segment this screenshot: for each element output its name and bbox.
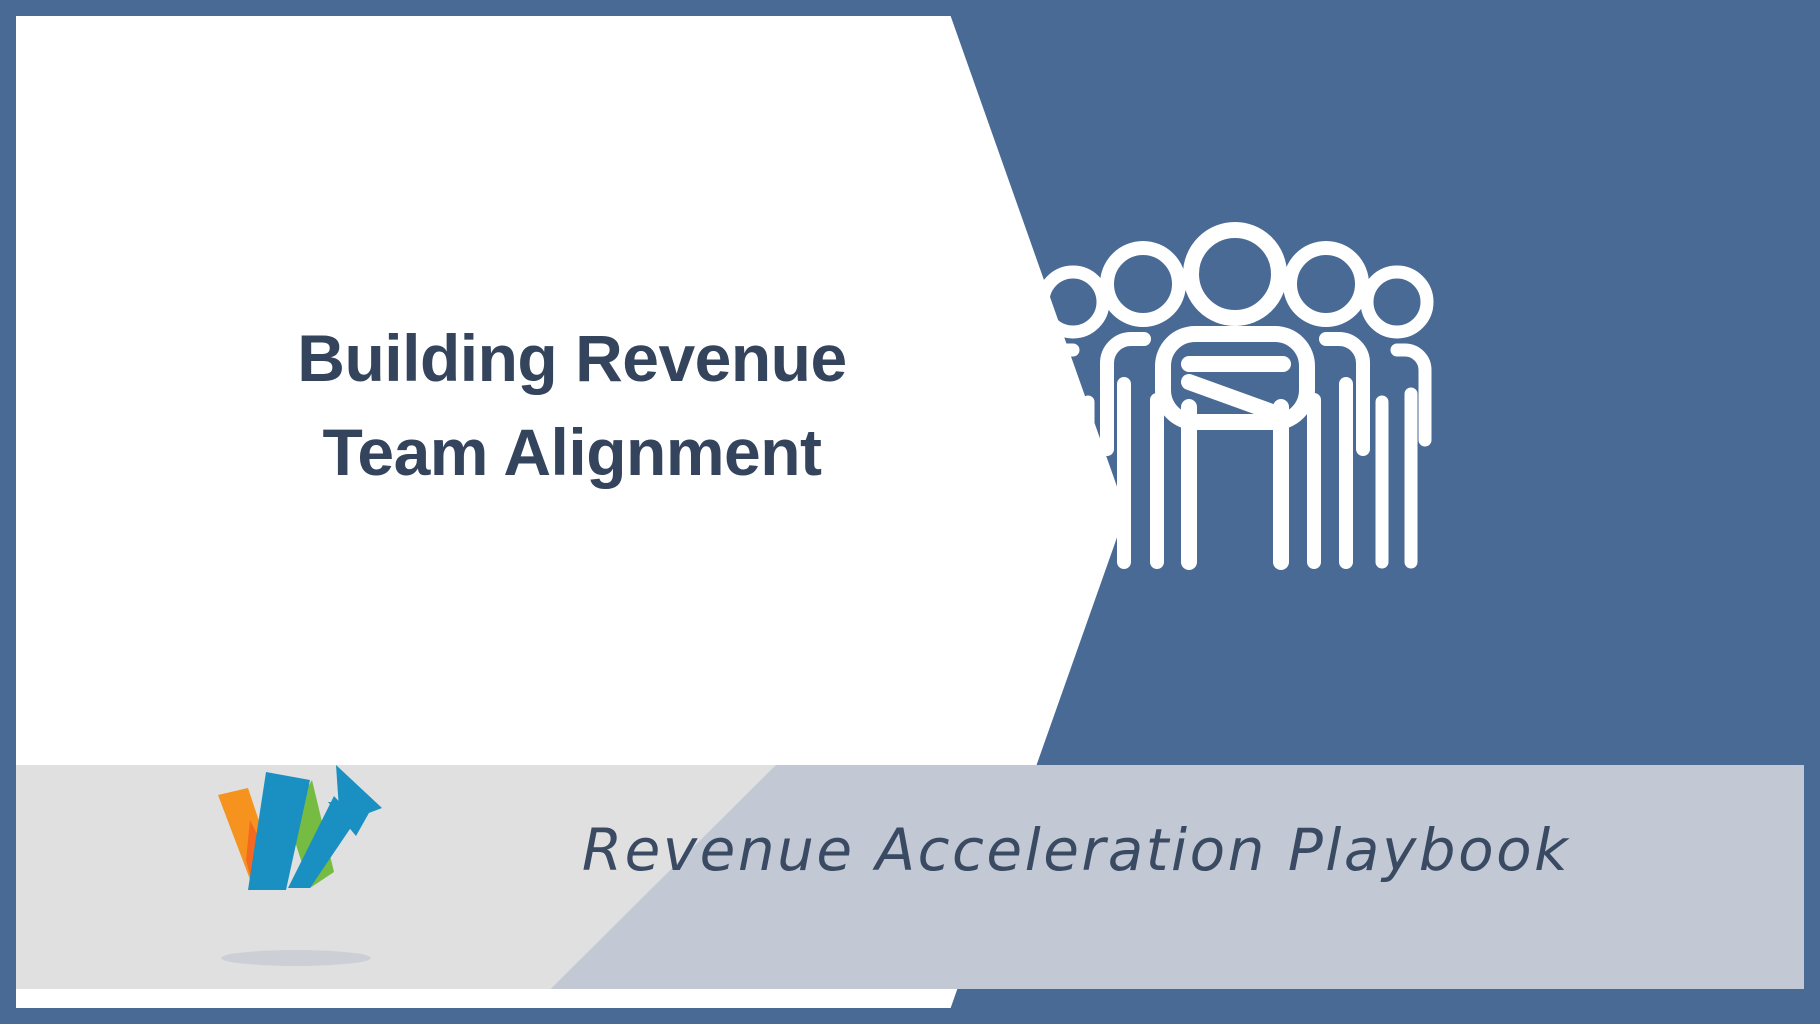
slide-inner-area: Building Revenue Team Alignment [16,16,1804,1008]
title-line-1: Building Revenue [252,312,892,406]
page-title: Building Revenue Team Alignment [252,312,892,499]
tagline: Revenue Acceleration Playbook [516,816,1636,884]
title-line-2: Team Alignment [252,406,892,500]
logo-shadow [221,950,371,966]
company-w-arrow-logo [206,760,396,910]
team-group-icon [1026,222,1446,582]
slide-canvas: Building Revenue Team Alignment [0,0,1820,1024]
